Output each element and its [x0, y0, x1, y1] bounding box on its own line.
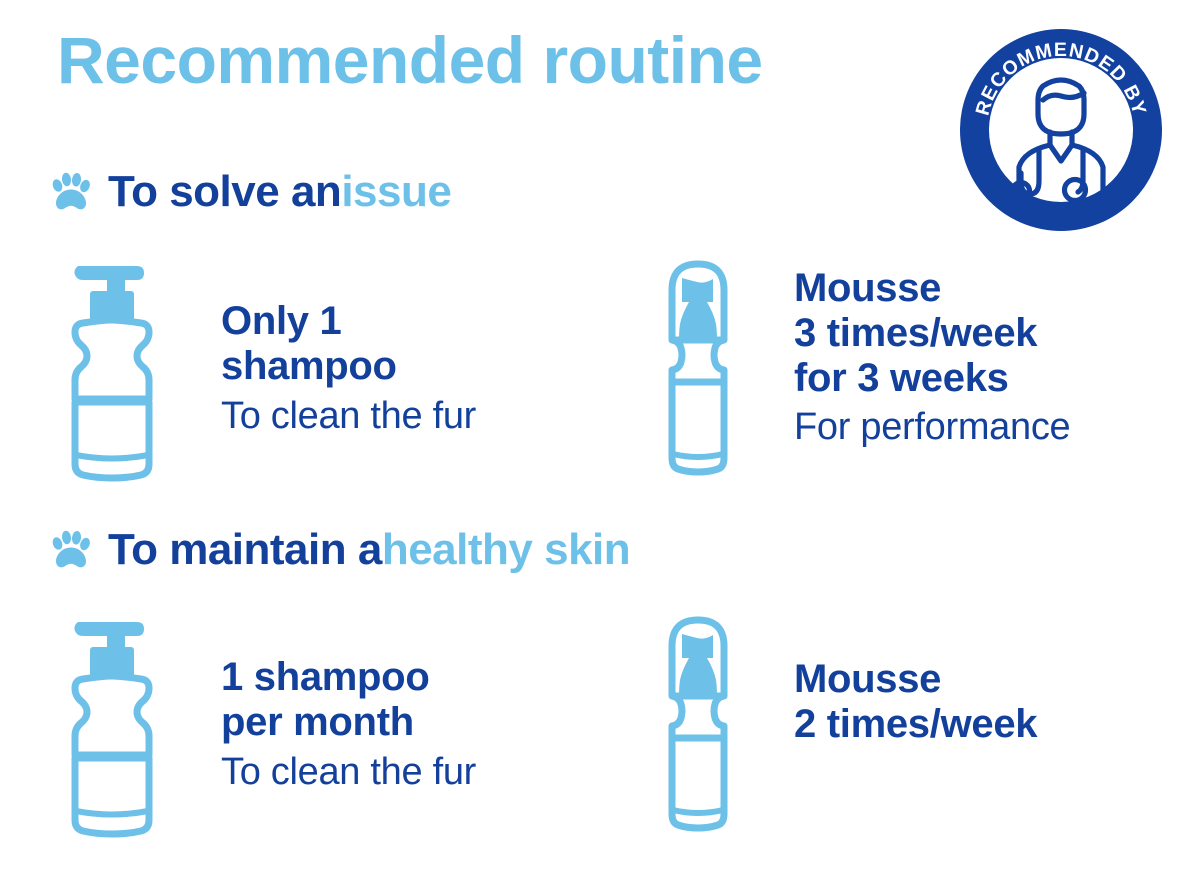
product-mousse-issue-text: Mousse 3 times/week for 3 weeks For perf… [794, 266, 1070, 450]
product-shampoo-healthy-subtitle: To clean the fur [221, 751, 476, 795]
section-heading-issue: To solve an issue [50, 170, 451, 214]
section-heading-issue-text-dark: To solve an [108, 170, 341, 214]
product-mousse-issue-subtitle: For performance [794, 406, 1070, 450]
vet-seal-icon: RECOMMENDED BY VETERINARIANS [955, 24, 1167, 236]
product-shampoo-issue-title: Only 1 shampoo [221, 299, 476, 389]
product-mousse-healthy-title: Mousse 2 times/week [794, 657, 1037, 747]
page-title: Recommended routine [57, 26, 763, 95]
product-shampoo-healthy: 1 shampoo per month To clean the fur [50, 606, 476, 846]
product-mousse-healthy: Mousse 2 times/week [660, 606, 1037, 846]
paw-print-icon [50, 529, 92, 571]
section-heading-healthy: To maintain a healthy skin [50, 528, 630, 572]
product-shampoo-healthy-text: 1 shampoo per month To clean the fur [221, 655, 476, 794]
paw-print-icon [50, 171, 92, 213]
product-shampoo-healthy-title: 1 shampoo per month [221, 655, 476, 745]
product-mousse-issue-title: Mousse 3 times/week for 3 weeks [794, 266, 1070, 400]
product-shampoo-issue-subtitle: To clean the fur [221, 395, 476, 439]
product-mousse-issue: Mousse 3 times/week for 3 weeks For perf… [660, 250, 1070, 490]
shampoo-pump-bottle-icon [50, 250, 176, 490]
mousse-bottle-icon [660, 250, 736, 490]
product-shampoo-issue-text: Only 1 shampoo To clean the fur [221, 299, 476, 438]
shampoo-pump-bottle-icon [50, 606, 176, 846]
infographic-canvas: Recommended routine RECOMMENDED BY VETER… [0, 0, 1194, 896]
recommended-by-veterinarians-badge: RECOMMENDED BY VETERINARIANS [955, 24, 1167, 236]
mousse-bottle-icon [660, 606, 736, 846]
section-heading-issue-text-light: issue [341, 170, 451, 214]
section-heading-healthy-text-dark: To maintain a [108, 528, 382, 572]
section-heading-healthy-text-light: healthy skin [382, 528, 630, 572]
product-shampoo-issue: Only 1 shampoo To clean the fur [50, 250, 476, 490]
product-mousse-healthy-text: Mousse 2 times/week [794, 657, 1037, 753]
